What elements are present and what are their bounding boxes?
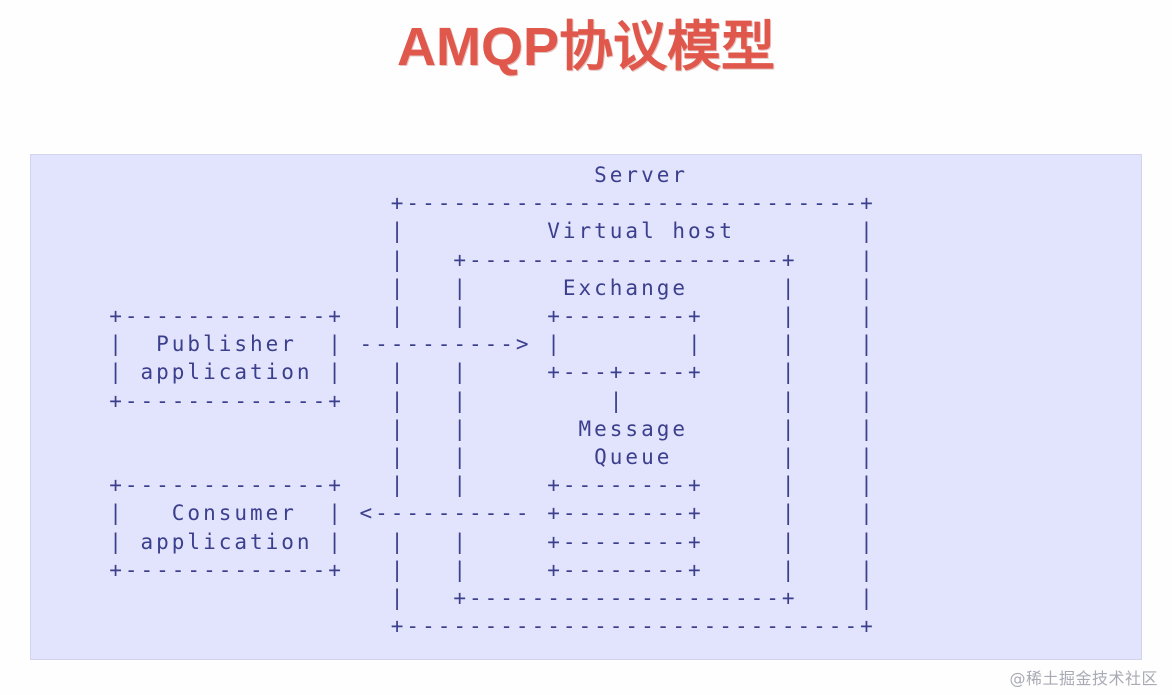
page-title: AMQP协议模型 xyxy=(0,0,1172,78)
amqp-diagram-panel: Server +-----------------------------+ |… xyxy=(30,154,1142,660)
ascii-diagram: Server +-----------------------------+ |… xyxy=(31,161,876,640)
watermark: @稀土掘金技术社区 xyxy=(1009,665,1158,689)
